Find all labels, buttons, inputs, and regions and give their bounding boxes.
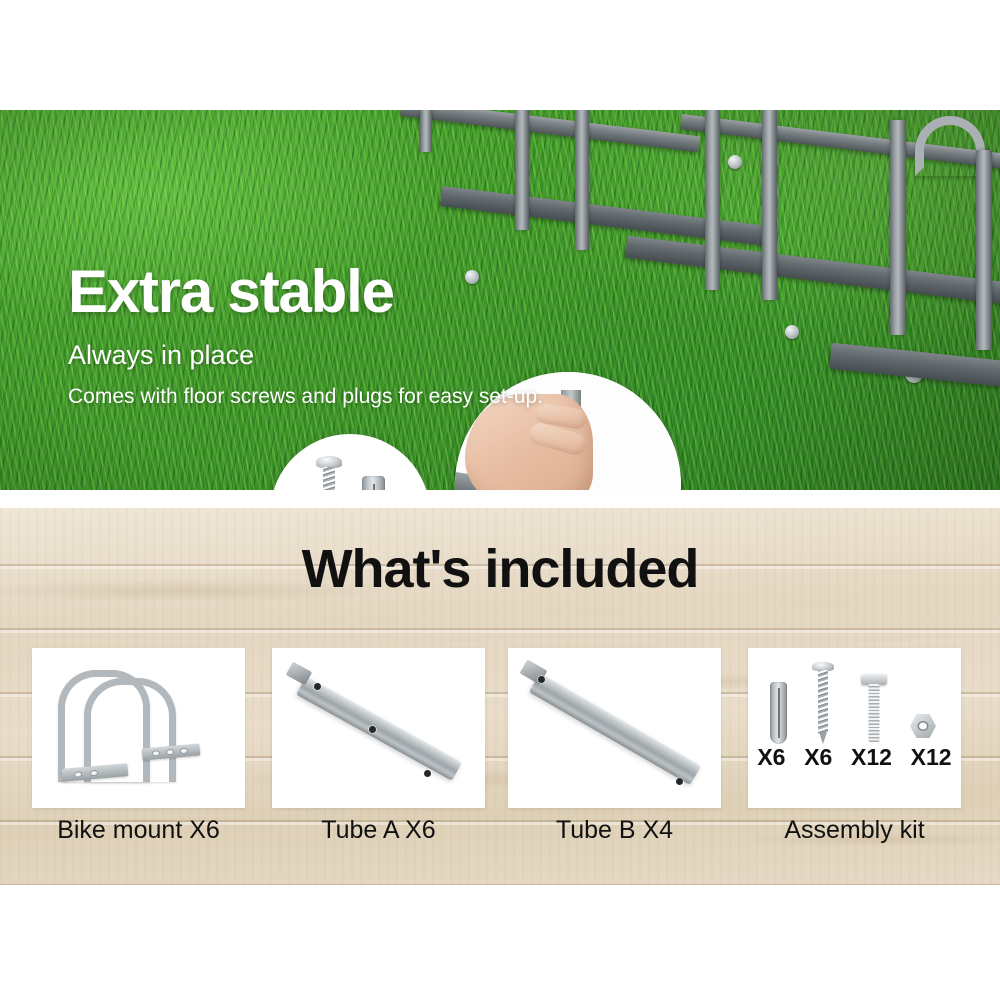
item-label-bike-mount: Bike mount X6 [32, 816, 245, 845]
tube-b-hole-2 [676, 778, 683, 785]
rack-rail-upper-left [400, 110, 700, 152]
kit-quantity-row: X6 X6 X12 X12 [748, 744, 961, 771]
section-divider [0, 490, 1000, 508]
rack-post-2 [515, 110, 529, 230]
included-title: What's included [0, 538, 1000, 600]
floor-screw-icon [314, 456, 344, 490]
item-label-tube-b: Tube B X4 [508, 816, 721, 845]
rack-post-5 [762, 110, 777, 300]
kit-qty-bolt: X12 [851, 744, 892, 771]
rack-post-4 [705, 110, 720, 290]
rack-post-7 [976, 150, 992, 350]
item-card-tube-b [508, 648, 721, 808]
wall-plug-icon [362, 476, 385, 490]
tube-b-hole-1 [538, 676, 545, 683]
tube-b-body [529, 673, 701, 785]
item-label-tube-a: Tube A X6 [272, 816, 485, 845]
item-label-assembly-kit: Assembly kit [748, 816, 961, 845]
rack-bolt-3 [785, 325, 799, 339]
hero-headline: Extra stable [68, 262, 543, 322]
wall-plug-part [770, 682, 787, 744]
hero-subhead: Always in place [68, 340, 543, 371]
item-card-bike-mount [32, 648, 245, 808]
bottom-white-margin [0, 885, 1000, 1000]
item-card-tube-a [272, 648, 485, 808]
wood-screw-part [810, 662, 836, 744]
tube-b-photo [508, 648, 721, 808]
lock-nut-part [910, 714, 940, 740]
machine-bolt-part [860, 674, 888, 744]
assembly-kit-photo: X6 X6 X12 X12 [748, 648, 961, 808]
bike-mount-photo [32, 648, 245, 808]
rack-bolt-2 [728, 155, 742, 169]
rack-post-3 [575, 110, 589, 250]
item-card-assembly-kit: X6 X6 X12 X12 [748, 648, 961, 808]
hero-copy: Extra stable Always in place Comes with … [68, 262, 543, 412]
hero-body-text: Comes with floor screws and plugs for ea… [68, 383, 543, 412]
tube-a-hole-1 [314, 683, 321, 690]
top-white-margin [0, 0, 1000, 110]
rack-post-6 [890, 120, 906, 335]
kit-qty-screw: X6 [804, 744, 832, 771]
kit-qty-nut: X12 [911, 744, 952, 771]
rack-post-1 [420, 110, 432, 152]
kit-qty-plug: X6 [757, 744, 785, 771]
rack-rail-front [625, 236, 1000, 307]
tube-a-photo [272, 648, 485, 808]
tube-a-hole-2 [369, 726, 376, 733]
product-marketing-image: Extra stable Always in place Comes with … [0, 0, 1000, 1000]
included-items: X6 X6 X12 X12 Bike mount X6 Tube A X6 Tu… [0, 648, 1000, 883]
rack-rail-mid-left [440, 186, 770, 246]
rack-hoop [915, 116, 985, 176]
tube-a-body [296, 676, 462, 781]
tube-a-hole-3 [424, 770, 431, 777]
hero-section: Extra stable Always in place Comes with … [0, 110, 1000, 490]
